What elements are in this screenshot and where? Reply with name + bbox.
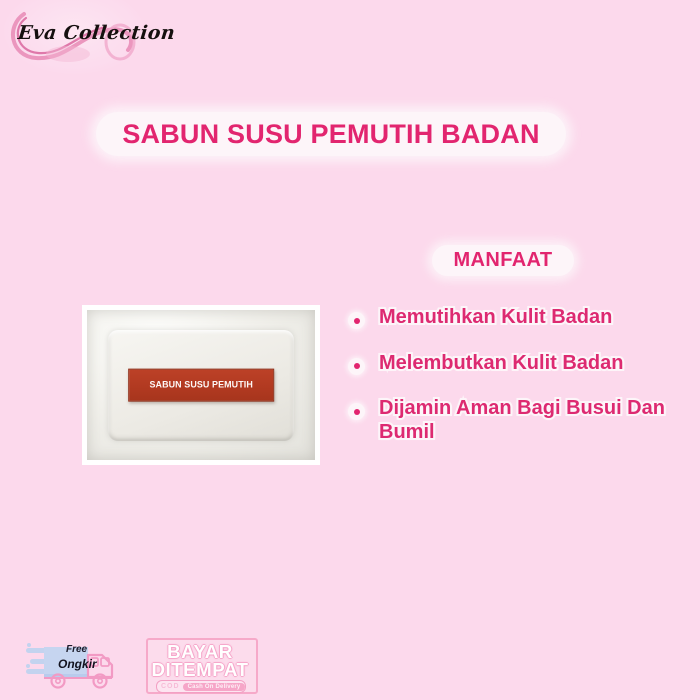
- cod-tag: COD: [157, 683, 180, 690]
- soap-bar: SABUN SUSU PEMUTIH: [87, 310, 315, 460]
- benefit-text: Memutihkan Kulit Badan: [379, 306, 612, 330]
- soap-label: SABUN SUSU PEMUTIH: [128, 369, 274, 402]
- page-title: SABUN SUSU PEMUTIH BADAN: [96, 112, 566, 156]
- footer-badges: Free Ongkir BAYAR DITEMPAT COD Cash On D…: [26, 636, 256, 694]
- benefit-text: Melembutkan Kulit Badan: [379, 352, 623, 376]
- cod-line2: DITEMPAT: [144, 660, 256, 681]
- promo-canvas: Eva Collection SABUN SUSU PEMUTIH BADAN …: [0, 0, 700, 700]
- cod-strip: COD Cash On Delivery: [156, 680, 246, 693]
- bullet-dot-icon: [348, 312, 365, 329]
- logo-text: Eva Collection: [17, 22, 176, 44]
- bullet-dot-icon: [348, 358, 365, 375]
- free-shipping-line2: Ongkir: [58, 657, 97, 671]
- product-image: SABUN SUSU PEMUTIH: [82, 305, 320, 465]
- list-item: Melembutkan Kulit Badan: [348, 352, 678, 376]
- benefit-text: Dijamin Aman Bagi Busui Dan Bumil: [379, 397, 678, 444]
- soap-label-text: SABUN SUSU PEMUTIH: [149, 380, 252, 391]
- free-shipping-line1: Free: [66, 644, 87, 655]
- bullet-dot-icon: [348, 403, 365, 420]
- benefits-list: Memutihkan Kulit Badan Melembutkan Kulit…: [348, 306, 678, 466]
- cod-subtitle: Cash On Delivery: [183, 683, 246, 691]
- benefits-heading: MANFAAT: [432, 245, 574, 276]
- free-shipping-badge: Free Ongkir: [26, 638, 138, 690]
- cod-badge: BAYAR DITEMPAT COD Cash On Delivery: [146, 636, 256, 694]
- list-item: Dijamin Aman Bagi Busui Dan Bumil: [348, 397, 678, 444]
- list-item: Memutihkan Kulit Badan: [348, 306, 678, 330]
- benefits-heading-text: MANFAAT: [453, 249, 552, 272]
- page-title-text: SABUN SUSU PEMUTIH BADAN: [122, 119, 539, 150]
- brand-logo: Eva Collection: [4, 2, 144, 64]
